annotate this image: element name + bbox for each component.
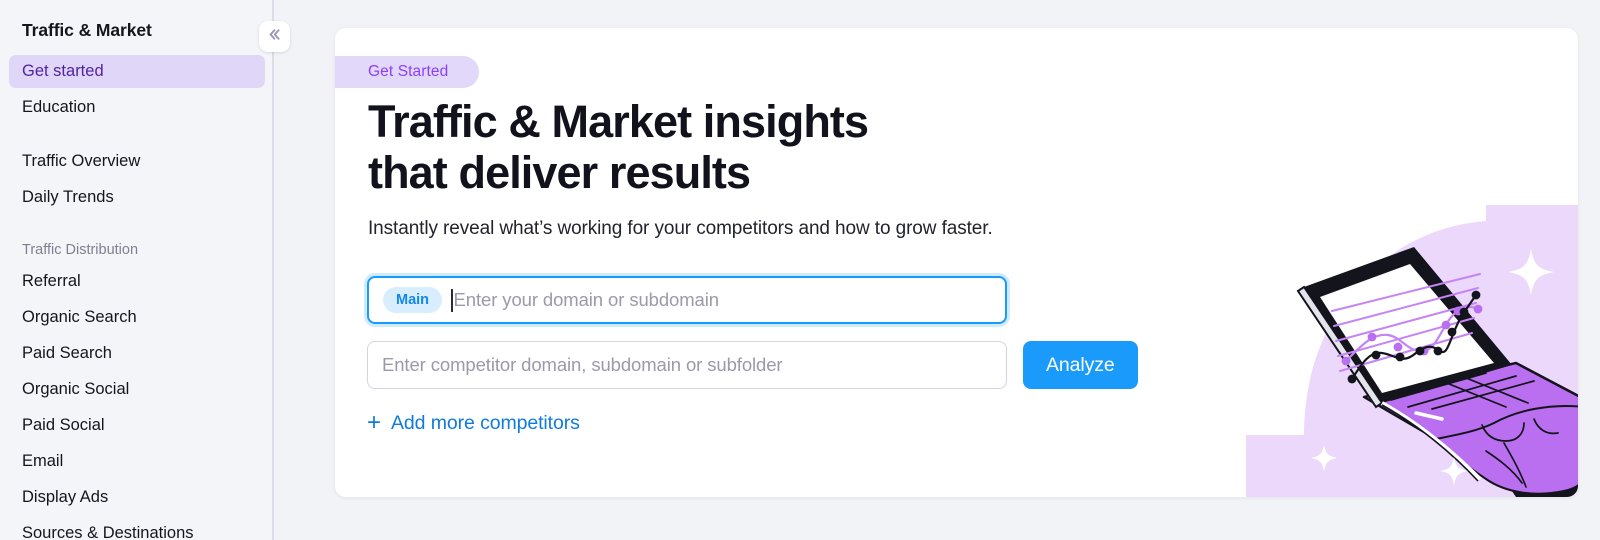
sidebar: Traffic & Market Get startedEducationTra… (0, 0, 274, 540)
sidebar-item-display-ads[interactable]: Display Ads (9, 481, 265, 514)
sidebar-spacer (0, 127, 274, 145)
sidebar-item-education[interactable]: Education (9, 91, 265, 124)
sidebar-spacer (0, 217, 274, 235)
get-started-badge: Get Started (335, 56, 479, 88)
sidebar-collapse-button[interactable] (259, 21, 290, 52)
app-root: Traffic & Market Get startedEducationTra… (0, 0, 1600, 540)
analyze-button[interactable]: Analyze (1023, 341, 1138, 389)
sidebar-item-get-started[interactable]: Get started (9, 55, 265, 88)
sidebar-item-daily-trends[interactable]: Daily Trends (9, 181, 265, 214)
competitor-domain-placeholder: Enter competitor domain, subdomain or su… (382, 354, 782, 376)
hand-holding-laptop-illustration (1178, 28, 1578, 497)
main-domain-placeholder: Enter your domain or subdomain (454, 289, 719, 311)
sidebar-title: Traffic & Market (22, 20, 152, 41)
main-domain-row: Main Enter your domain or subdomain (367, 276, 1138, 324)
sidebar-item-sources-destinations[interactable]: Sources & Destinations (9, 517, 265, 540)
sidebar-nav-list: Get startedEducationTraffic OverviewDail… (0, 55, 274, 540)
get-started-card: Get Started Traffic & Market insights th… (335, 28, 1578, 497)
headline-line-1: Traffic & Market insights (368, 96, 868, 147)
sidebar-section-label: Traffic Distribution (9, 235, 265, 265)
sidebar-item-paid-search[interactable]: Paid Search (9, 337, 265, 370)
competitor-domain-row: Enter competitor domain, subdomain or su… (367, 341, 1138, 389)
headline-line-2: that deliver results (368, 147, 750, 198)
main-content: Get Started Traffic & Market insights th… (276, 0, 1600, 540)
main-tag-badge: Main (383, 287, 442, 313)
sidebar-item-referral[interactable]: Referral (9, 265, 265, 298)
sidebar-item-paid-social[interactable]: Paid Social (9, 409, 265, 442)
double-chevron-left-icon (266, 26, 283, 48)
sidebar-item-email[interactable]: Email (9, 445, 265, 478)
main-domain-input[interactable]: Main Enter your domain or subdomain (367, 276, 1007, 324)
sidebar-item-organic-social[interactable]: Organic Social (9, 373, 265, 406)
plus-icon: + (367, 411, 381, 435)
competitor-domain-input[interactable]: Enter competitor domain, subdomain or su… (367, 341, 1007, 389)
page-subtitle: Instantly reveal what’s working for your… (368, 218, 993, 240)
sidebar-item-organic-search[interactable]: Organic Search (9, 301, 265, 334)
domain-analysis-form: Main Enter your domain or subdomain Ente… (367, 276, 1138, 435)
text-cursor (451, 289, 453, 312)
add-more-competitors-link[interactable]: + Add more competitors (367, 411, 580, 435)
sidebar-item-traffic-overview[interactable]: Traffic Overview (9, 145, 265, 178)
page-title: Traffic & Market insights that deliver r… (368, 96, 868, 198)
add-more-competitors-label: Add more competitors (391, 412, 580, 435)
